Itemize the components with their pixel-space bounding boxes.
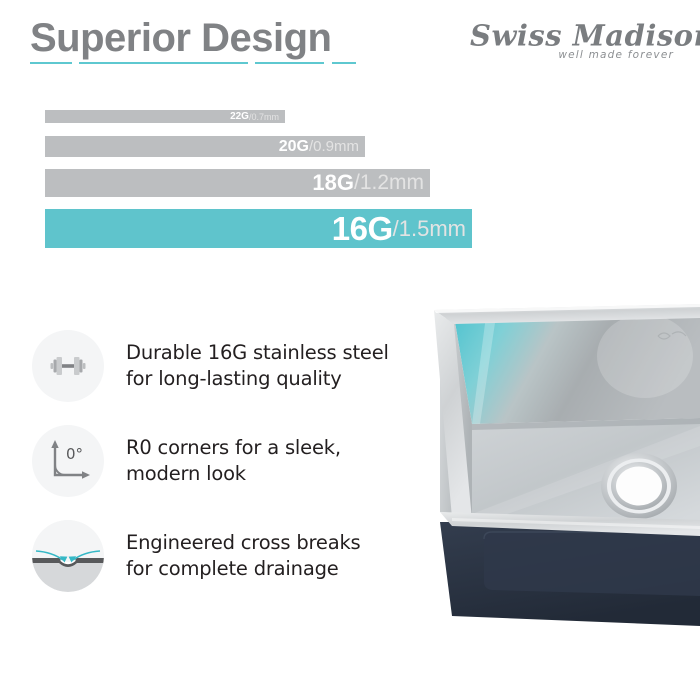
- feature-durability-line2: for long-lasting quality: [126, 366, 389, 392]
- gauge-bar-16g-thickness: 1.5mm: [399, 216, 466, 242]
- stainless-steel-undermount-sink: [400, 296, 700, 636]
- gauge-bar-20g-thickness: 0.9mm: [313, 138, 359, 155]
- cross-break-drainage-icon: [32, 520, 104, 592]
- feature-text-corners: R0 corners for a sleek, modern look: [126, 435, 341, 487]
- feature-item-drainage: Engineered cross breaks for complete dra…: [32, 520, 432, 592]
- dumbbell-icon: [32, 330, 104, 402]
- gauge-bar-22g-thickness: 0.7mm: [251, 112, 279, 122]
- feature-corners-line1: R0 corners for a sleek,: [126, 435, 341, 461]
- feature-text-durability: Durable 16G stainless steel for long-las…: [126, 340, 389, 392]
- gauge-bar-18g: 18G / 1.2mm: [45, 169, 430, 197]
- feature-drainage-line2: for complete drainage: [126, 556, 361, 582]
- feature-item-durability: Durable 16G stainless steel for long-las…: [32, 330, 432, 402]
- feature-item-corners: 0° R0 corners for a sleek, modern look: [32, 425, 432, 497]
- gauge-bar-18g-gauge: 18G: [312, 170, 354, 196]
- feature-text-drainage: Engineered cross breaks for complete dra…: [126, 530, 361, 582]
- right-angle-icon-label: 0°: [66, 445, 83, 463]
- gauge-bar-16g-gauge: 16G: [332, 210, 393, 248]
- brand-name-text: Swiss Madison: [470, 19, 700, 53]
- drain-opening: [601, 453, 677, 519]
- underline-gap-p: [72, 60, 79, 66]
- sink-underbody: [440, 522, 700, 626]
- gauge-bar-20g: 20G / 0.9mm: [45, 136, 365, 157]
- gauge-bar-22g: 22G / 0.7mm: [45, 110, 285, 123]
- right-angle-icon: 0°: [32, 425, 104, 497]
- underline-gap-g: [248, 60, 255, 66]
- feature-corners-line2: modern look: [126, 461, 341, 487]
- feature-drainage-line1: Engineered cross breaks: [126, 530, 361, 556]
- gauge-bar-chart: 22G / 0.7mm 20G / 0.9mm 18G / 1.2mm 16G/…: [45, 110, 475, 248]
- gauge-bar-16g-highlight: 16G/1.5mm: [45, 209, 472, 248]
- gauge-bar-20g-gauge: 20G: [279, 138, 309, 156]
- underline-gap-end: [324, 60, 332, 66]
- brand-logo: Swiss Madison® well made forever: [470, 18, 678, 64]
- gauge-bar-18g-thickness: 1.2mm: [360, 171, 424, 195]
- brand-name: Swiss Madison®: [470, 18, 678, 51]
- infographic-page: Superior Design Swiss Madison® well made…: [0, 0, 700, 700]
- page-title: Superior Design: [30, 16, 331, 60]
- feature-list: Durable 16G stainless steel for long-las…: [32, 330, 432, 615]
- feature-durability-line1: Durable 16G stainless steel: [126, 340, 389, 366]
- gauge-bar-22g-gauge: 22G: [230, 111, 249, 122]
